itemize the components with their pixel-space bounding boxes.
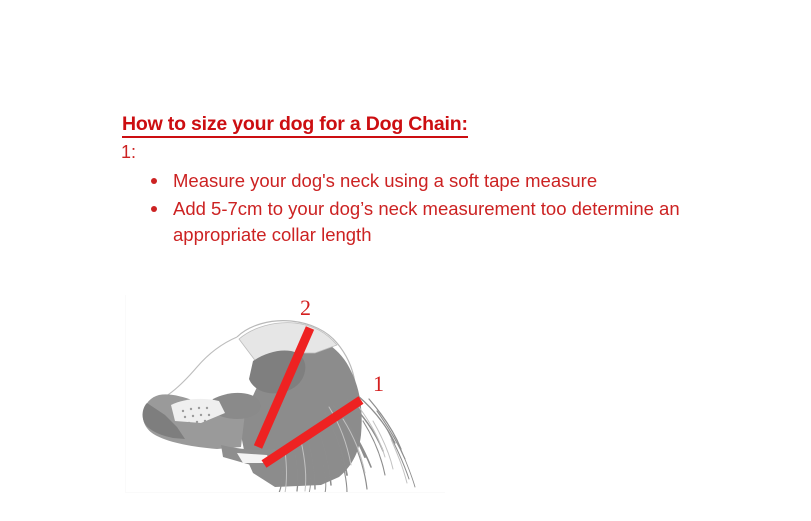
list-item: Measure your dog's neck using a soft tap… (146, 168, 706, 194)
list-item: Add 5-7cm to your dog’s neck measurement… (146, 196, 706, 248)
list-item-text: Add 5-7cm to your dog’s neck measurement… (173, 196, 706, 248)
bullet-disc-icon (151, 178, 157, 184)
dog-head-profile-graphic (125, 295, 445, 493)
dog-sizing-illustration: 2 1 (125, 295, 445, 493)
page-root: How to size your dog for a Dog Chain: 1:… (0, 0, 811, 521)
bullet-disc-icon (151, 206, 157, 212)
step-number-label: 1: (121, 141, 136, 163)
list-item-text: Measure your dog's neck using a soft tap… (173, 168, 706, 194)
page-title: How to size your dog for a Dog Chain: (122, 113, 468, 138)
instruction-list: Measure your dog's neck using a soft tap… (146, 168, 706, 250)
dog-head-mass (143, 323, 362, 487)
measurement-label-1: 1 (373, 373, 384, 395)
measurement-label-2: 2 (300, 297, 311, 319)
